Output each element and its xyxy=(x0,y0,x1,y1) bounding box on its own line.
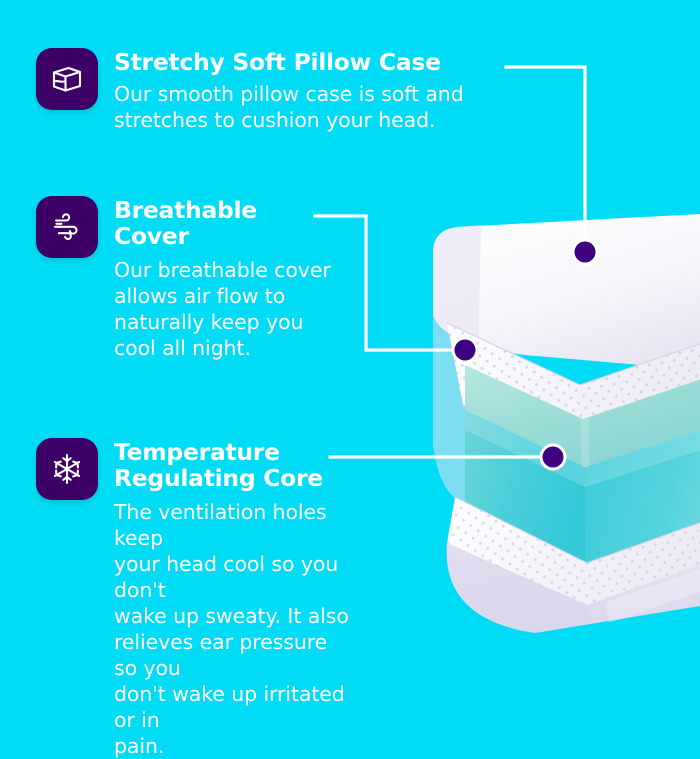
cube-icon xyxy=(50,62,84,96)
feature-temperature-regulating-core: Temperature Regulating Core The ventilat… xyxy=(36,438,356,759)
feature-stretchy-soft-pillow-case: Stretchy Soft Pillow Case Our smooth pil… xyxy=(36,48,506,133)
marker-dot-1 xyxy=(572,239,599,266)
feature-text-block: Stretchy Soft Pillow Case Our smooth pil… xyxy=(114,48,464,133)
snowflake-icon xyxy=(50,452,84,486)
feature-description: Our smooth pillow case is soft and stret… xyxy=(114,81,464,133)
feature-breathable-cover: Breathable Cover Our breathable cover al… xyxy=(36,196,336,361)
feature-description: Our breathable cover allows air flow to … xyxy=(114,257,331,361)
product-image-pillow xyxy=(395,205,700,635)
feature-title: Stretchy Soft Pillow Case xyxy=(114,49,464,75)
wind-icon xyxy=(50,210,84,244)
cube-icon-tile xyxy=(36,48,98,110)
infographic-canvas: Stretchy Soft Pillow Case Our smooth pil… xyxy=(0,0,700,700)
wind-icon-tile xyxy=(36,196,98,258)
snowflake-icon-tile xyxy=(36,438,98,500)
feature-text-block: Breathable Cover Our breathable cover al… xyxy=(114,196,331,361)
feature-title: Temperature Regulating Core xyxy=(114,439,356,492)
feature-description: The ventilation holes keep your head coo… xyxy=(114,499,356,759)
marker-dot-2 xyxy=(452,337,479,364)
feature-text-block: Temperature Regulating Core The ventilat… xyxy=(114,438,356,759)
feature-title: Breathable Cover xyxy=(114,197,331,250)
marker-dot-3 xyxy=(540,444,567,471)
connector-line-1 xyxy=(506,67,585,241)
